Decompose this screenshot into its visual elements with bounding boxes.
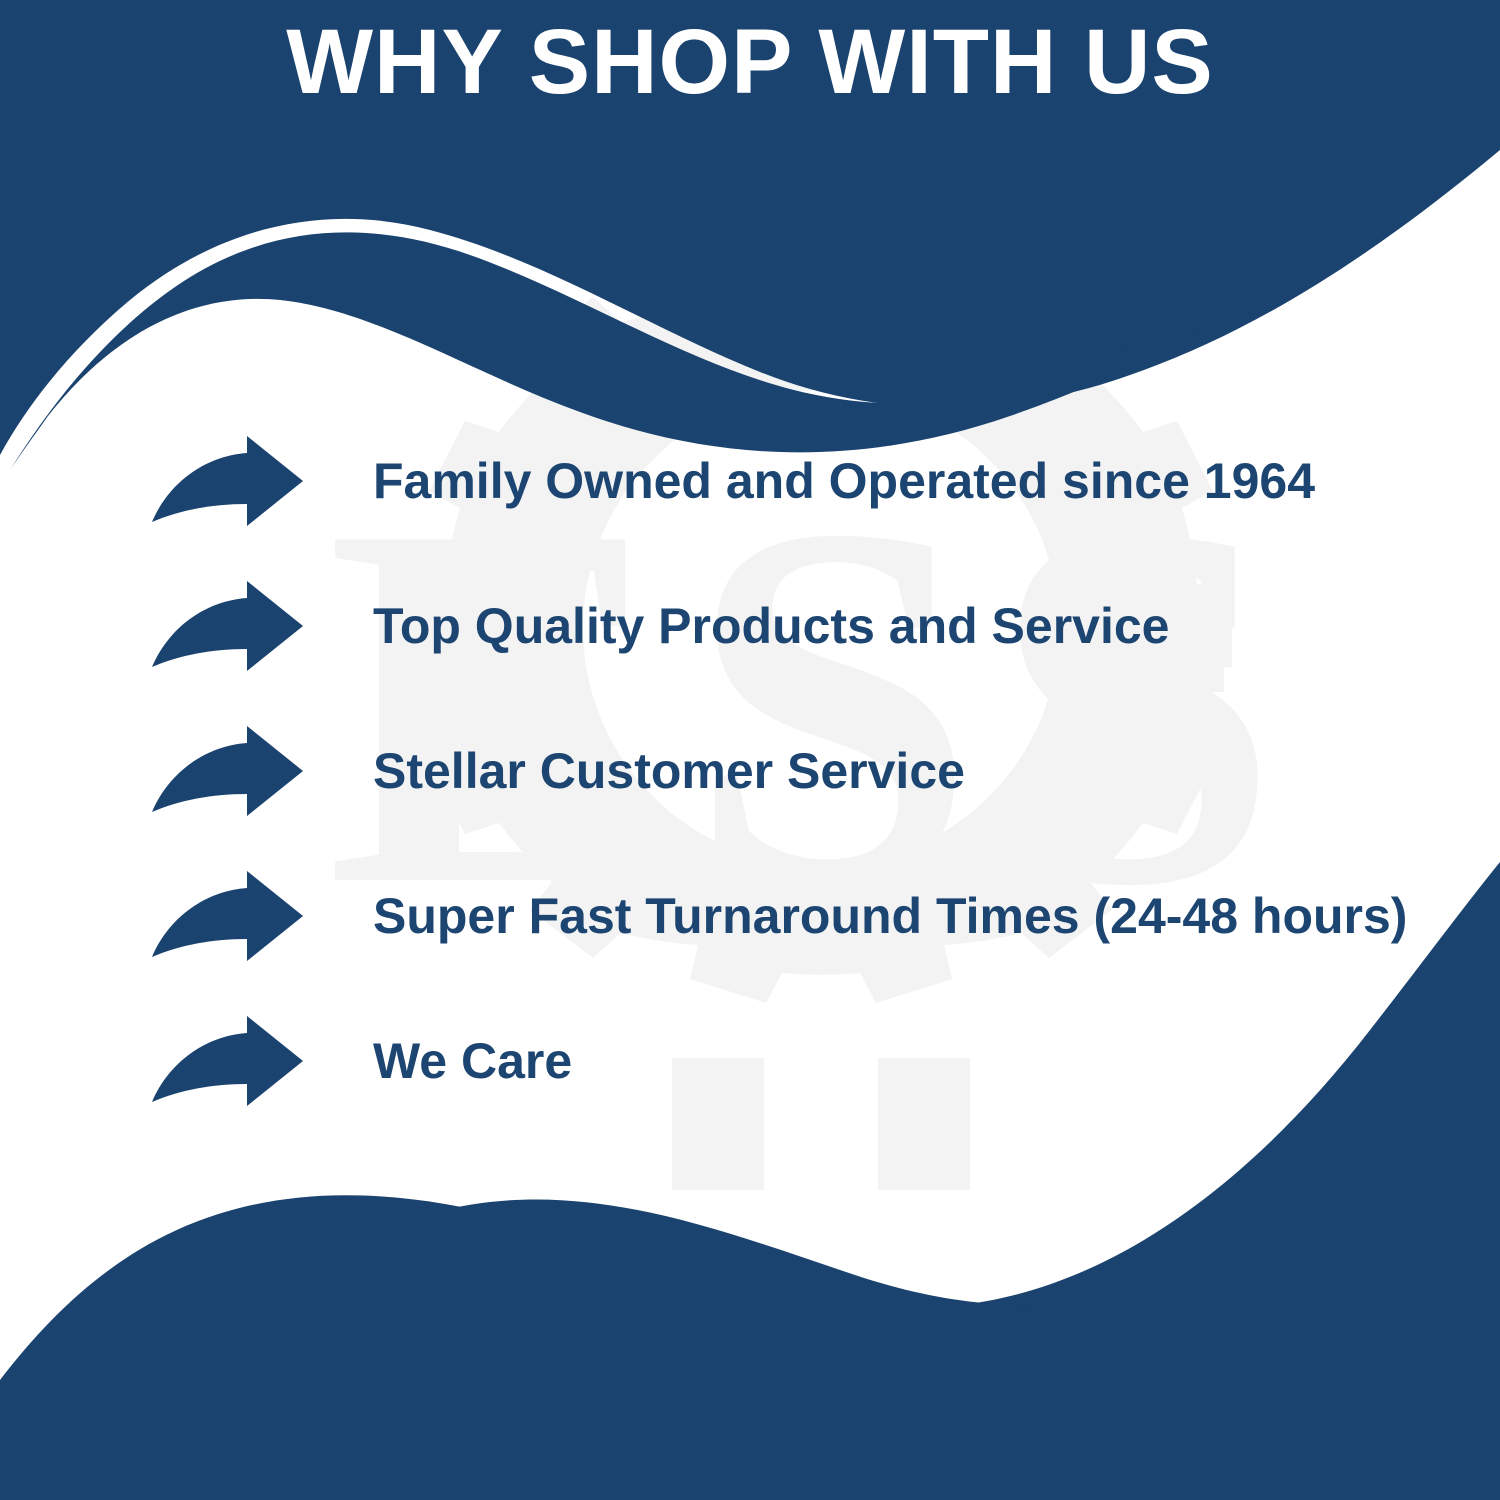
list-item-label: Super Fast Turnaround Times (24-48 hours… [373,889,1407,944]
benefit-list: Family Owned and Operated since 1964 Top… [150,432,1440,1110]
curved-arrow-right-icon [150,434,305,529]
list-item: Super Fast Turnaround Times (24-48 hours… [150,867,1440,965]
curved-arrow-right-icon [150,579,305,674]
curved-arrow-right-icon [150,724,305,819]
list-item-label: Top Quality Products and Service [373,599,1169,654]
page-title: WHY SHOP WITH US [0,14,1500,112]
curved-arrow-right-icon [150,1014,305,1109]
list-item: Stellar Customer Service [150,722,1440,820]
list-item: Family Owned and Operated since 1964 [150,432,1440,530]
list-item-label: Stellar Customer Service [373,744,965,799]
content-layer: WHY SHOP WITH US Family Owned and Operat… [0,0,1500,1500]
list-item: We Care [150,1012,1440,1110]
curved-arrow-right-icon [150,869,305,964]
list-item: Top Quality Products and Service [150,577,1440,675]
poster-canvas: ESS WHY SHOP WITH US Family Owned and Op… [0,0,1500,1500]
list-item-label: Family Owned and Operated since 1964 [373,454,1315,509]
list-item-label: We Care [373,1034,572,1089]
